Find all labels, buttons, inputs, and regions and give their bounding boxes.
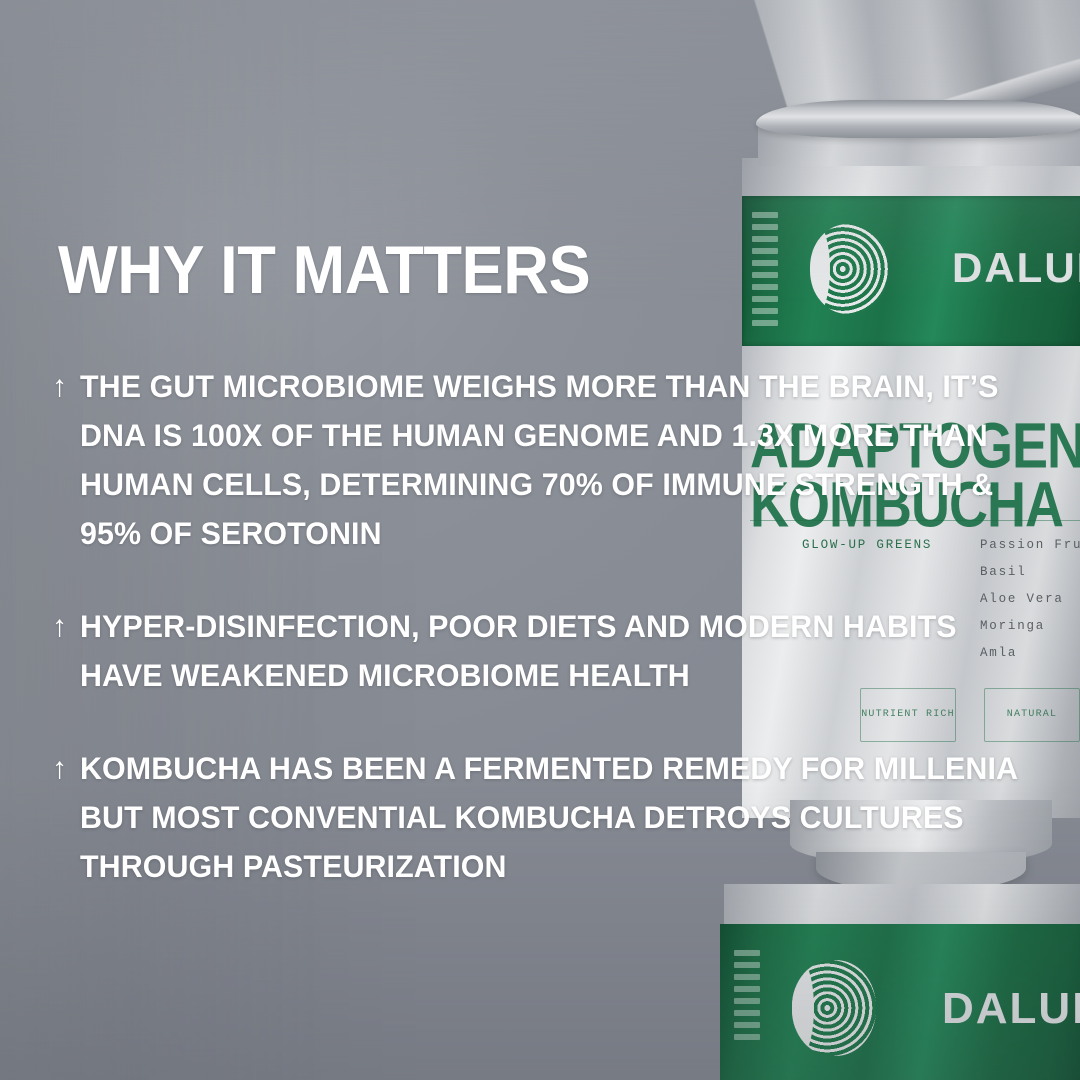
list-item: ↑ HYPER-DISINFECTION, POOR DIETS AND MOD…	[52, 602, 1062, 700]
page-title: WHY IT MATTERS	[58, 236, 590, 304]
list-item: ↑ THE GUT MICROBIOME WEIGHS MORE THAN TH…	[52, 362, 1062, 558]
text-overlay: WHY IT MATTERS ↑ THE GUT MICROBIOME WEIG…	[0, 0, 1080, 1080]
list-item-text: HYPER-DISINFECTION, POOR DIETS AND MODER…	[80, 602, 1028, 700]
up-arrow-icon: ↑	[52, 744, 80, 891]
up-arrow-icon: ↑	[52, 362, 80, 558]
up-arrow-icon: ↑	[52, 602, 80, 700]
list-item-text: THE GUT MICROBIOME WEIGHS MORE THAN THE …	[80, 362, 1028, 558]
list-item-text: KOMBUCHA HAS BEEN A FERMENTED REMEDY FOR…	[80, 744, 1028, 891]
bullet-list: ↑ THE GUT MICROBIOME WEIGHS MORE THAN TH…	[52, 362, 1062, 931]
list-item: ↑ KOMBUCHA HAS BEEN A FERMENTED REMEDY F…	[52, 744, 1062, 891]
